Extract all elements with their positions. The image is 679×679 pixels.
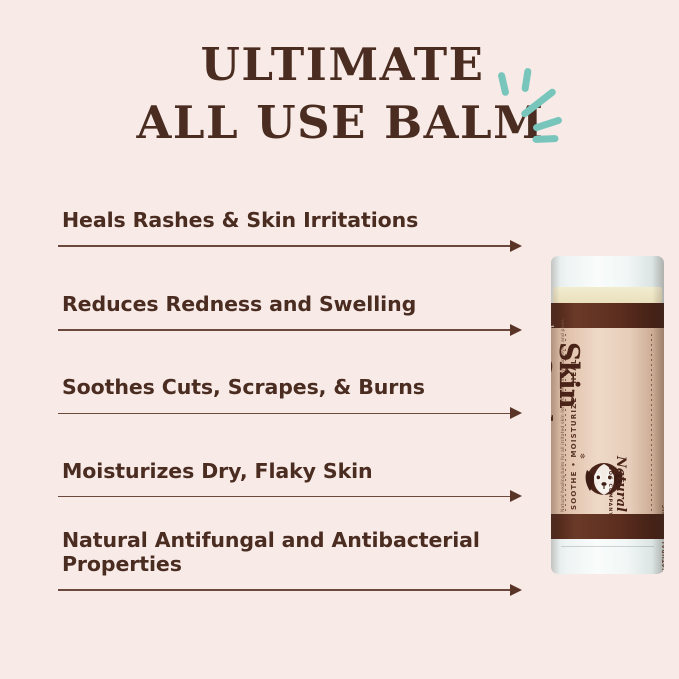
list-item: Reduces Redness and Swelling [58, 292, 528, 337]
benefit-label: Soothes Cuts, Scrapes, & Burns [58, 375, 528, 399]
tube-body: to open Natural healing balm for all irr… [551, 256, 664, 574]
label-band-top: to open [551, 303, 664, 331]
arrow-divider [58, 407, 528, 421]
product-name-line-2: Soother [551, 358, 553, 462]
benefit-label: Reduces Redness and Swelling [58, 292, 528, 316]
sparkle-icon [487, 60, 579, 146]
arrow-divider [58, 323, 528, 337]
product-name-line-1: Skin [555, 342, 581, 462]
arrow-divider [58, 490, 528, 504]
product-label: Natural healing balm for all irritated s… [551, 328, 664, 518]
label-dotted-border-right [651, 334, 652, 512]
arrow-divider [58, 583, 528, 597]
list-item: Natural Antifungal and Antibacterial Pro… [58, 528, 528, 597]
arrow-divider [58, 239, 528, 253]
list-item: Soothes Cuts, Scrapes, & Burns [58, 375, 528, 420]
infographic-canvas: ULTIMATE ALL USE BALM Heals Rashes & Ski… [0, 0, 679, 679]
balm-contents [553, 287, 662, 303]
list-item: Moisturizes Dry, Flaky Skin [58, 459, 528, 504]
product-wordmark: Skin Soother [551, 342, 581, 462]
product-image-skin-soother-tube: to open Natural healing balm for all irr… [551, 256, 664, 574]
benefit-label: Natural Antifungal and Antibacterial Pro… [58, 528, 528, 576]
brand-logotype: Natural DOG COMPANY [607, 456, 628, 517]
list-item: Heals Rashes & Skin Irritations [58, 208, 528, 253]
cap-seam [561, 546, 654, 547]
benefit-label: Heals Rashes & Skin Irritations [58, 208, 528, 232]
brand-name: Natural [613, 456, 628, 517]
label-band-bottom [551, 514, 664, 539]
brand-subtitle: DOG COMPANY [607, 466, 612, 517]
benefit-label: Moisturizes Dry, Flaky Skin [58, 459, 528, 483]
benefits-list: Heals Rashes & Skin Irritations Reduces … [58, 208, 528, 597]
